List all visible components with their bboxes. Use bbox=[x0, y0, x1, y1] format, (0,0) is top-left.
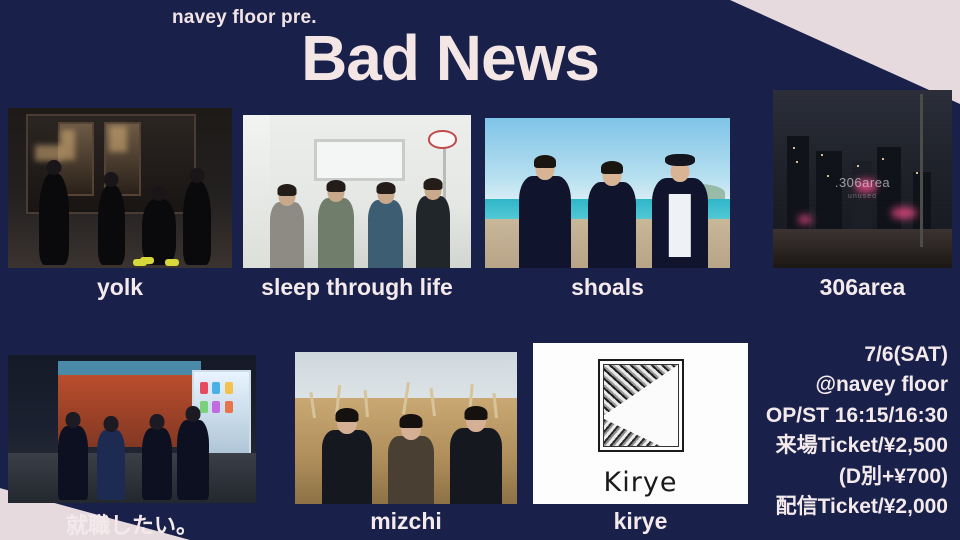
artist-caption-shoals: shoals bbox=[485, 274, 730, 301]
photo-art-yolk bbox=[8, 108, 232, 268]
artist-photo-mizchi bbox=[295, 352, 517, 504]
event-date: 7/6(SAT) bbox=[688, 340, 948, 370]
kirye-logo-mark bbox=[598, 359, 684, 452]
photo-art-mizchi bbox=[295, 352, 517, 504]
ticket-stream-price: 配信Ticket/¥2,000 bbox=[688, 492, 948, 522]
artist-caption-mizchi: mizchi bbox=[295, 508, 517, 535]
photo-art-shushoku-shitai bbox=[8, 355, 256, 503]
artist-photo-shushoku-shitai bbox=[8, 355, 256, 503]
photo-art-306area: .306area unused bbox=[773, 90, 952, 268]
photo-art-sleep-through-life bbox=[243, 115, 471, 268]
artist-photo-306area: .306area unused bbox=[773, 90, 952, 268]
event-title: Bad News bbox=[0, 26, 900, 90]
artist-caption-sleep-through-life: sleep through life bbox=[243, 274, 471, 301]
event-times: OP/ST 16:15/16:30 bbox=[688, 401, 948, 431]
ticket-door-price: 来場Ticket/¥2,500 bbox=[688, 431, 948, 461]
ticket-drink-note: (D別+¥700) bbox=[688, 462, 948, 492]
photo-art-shoals bbox=[485, 118, 730, 268]
flyer-canvas: navey floor pre. Bad News bbox=[0, 0, 960, 540]
artist-caption-yolk: yolk bbox=[8, 274, 232, 301]
event-info-block: 7/6(SAT) @navey floor OP/ST 16:15/16:30 … bbox=[688, 340, 948, 523]
event-venue: @navey floor bbox=[688, 370, 948, 400]
artist-caption-shushoku-shitai: 就職したい。 bbox=[8, 508, 256, 540]
artist-photo-shoals bbox=[485, 118, 730, 268]
artist-photo-yolk bbox=[8, 108, 232, 268]
artist-photo-sleep-through-life bbox=[243, 115, 471, 268]
artist-caption-306area: 306area bbox=[773, 274, 952, 301]
